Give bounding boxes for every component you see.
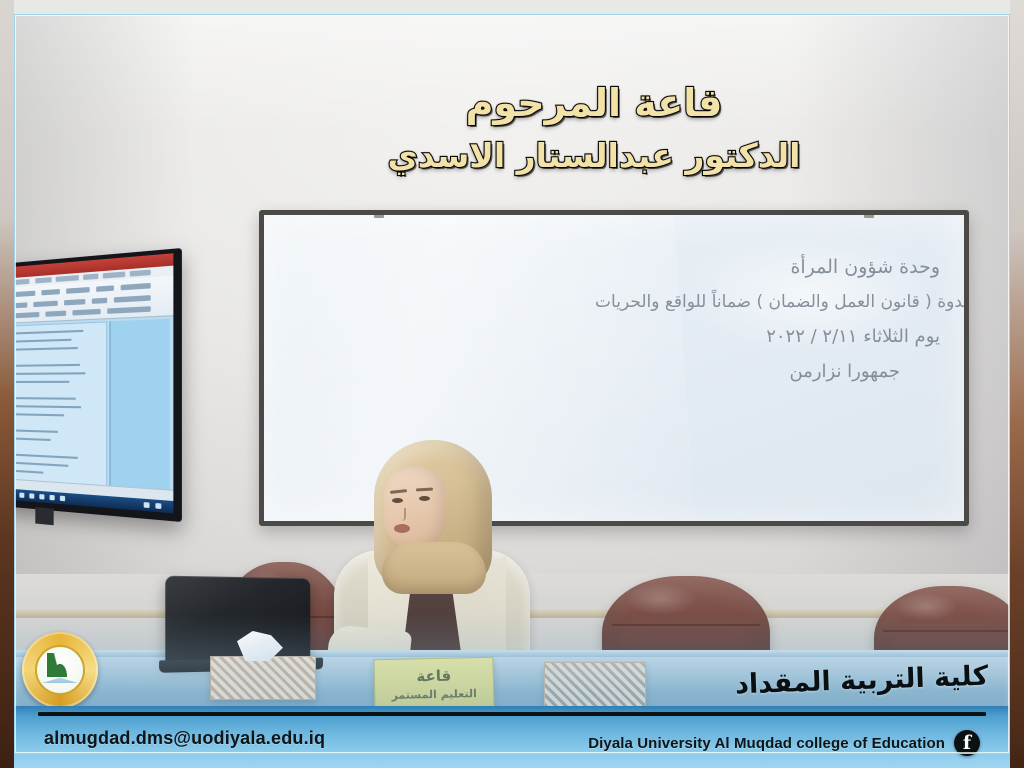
footer-right-group: Diyala University Al Muqdad college of E… <box>588 730 980 756</box>
palm-leaf-icon <box>47 653 73 677</box>
seal-emblem <box>35 645 85 695</box>
placard-line-2: التعليم المستمر <box>391 687 476 702</box>
presenter-eye <box>392 498 403 503</box>
frame-edge-right <box>1010 0 1024 768</box>
whiteboard-line: جمهورا نزارمن <box>380 354 900 389</box>
word-document-page <box>14 321 107 486</box>
facebook-icon[interactable]: f <box>954 730 980 756</box>
hall-title: قاعة المرحوم الدكتور عبدالستار الاسدي <box>314 80 874 177</box>
hall-title-line-1: قاعة المرحوم <box>314 80 874 126</box>
table-edge <box>14 650 1010 657</box>
whiteboard-line: ندوة ( قانون العمل والضمان ) ضماناً للوا… <box>380 286 968 319</box>
frame-edge-left <box>0 0 14 768</box>
laptop <box>165 576 310 663</box>
hall-title-line-2: الدكتور عبدالستار الاسدي <box>314 136 874 176</box>
presenter-face <box>384 466 446 548</box>
contact-email[interactable]: almugdad.dms@uodiyala.edu.iq <box>44 728 325 749</box>
footer-divider <box>38 712 986 716</box>
presenter-hijab-drape <box>382 542 486 594</box>
whiteboard-clip <box>374 211 384 218</box>
whiteboard-clip <box>864 211 874 218</box>
placard-line-1: قاعة <box>416 667 451 686</box>
word-side-pane <box>109 319 169 491</box>
photo-card: قاعة المرحوم الدكتور عبدالستار الاسدي وح… <box>0 0 1024 768</box>
wall-television <box>14 248 182 522</box>
whiteboard-line: يوم الثلاثاء ٢/١١ / ٢٠٢٢ <box>380 319 940 354</box>
whiteboard-handwriting: وحدة شؤون المرأة ندوة ( قانون العمل والض… <box>380 249 940 389</box>
secondary-placard <box>544 662 646 708</box>
tissue-box <box>210 656 316 700</box>
tv-screen <box>14 253 173 513</box>
university-name: Diyala University Al Muqdad college of E… <box>588 735 945 752</box>
presenter-nose <box>398 508 406 521</box>
footer-bar: almugdad.dms@uodiyala.edu.iq Diyala Univ… <box>14 706 1010 768</box>
photo-scene: قاعة المرحوم الدكتور عبدالستار الاسدي وح… <box>14 14 1010 768</box>
presenter-mouth <box>394 524 410 533</box>
tv-wall-mount <box>35 507 53 525</box>
name-placard: قاعة التعليم المستمر <box>373 657 494 712</box>
laptop-lid <box>165 576 310 663</box>
university-seal-logo <box>22 632 98 708</box>
presenter <box>332 432 532 672</box>
presenter-eye <box>419 496 430 501</box>
whiteboard-line: وحدة شؤون المرأة <box>380 249 940 286</box>
